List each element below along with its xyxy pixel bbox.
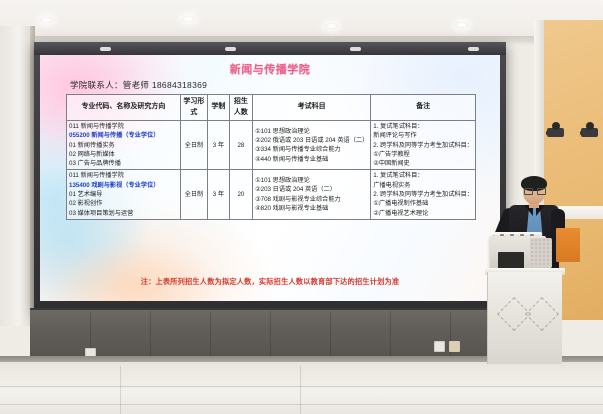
floor-tile-line (0, 404, 603, 405)
floor (0, 362, 603, 414)
cell-enrollment: 28 (229, 121, 252, 170)
frame-spot-light (350, 47, 361, 51)
remark-line: ①广播电视制作基础 (373, 199, 473, 208)
cell-duration: 3 年 (207, 121, 229, 170)
wall-camera-icon (581, 128, 598, 137)
speaker-grill-icon (530, 238, 552, 268)
remark-line: ②中国新闻史 (373, 159, 473, 168)
cell-duration: 3 年 (207, 170, 229, 219)
major-line: 011 新闻与传播学院 (69, 171, 178, 180)
major-line-code: 055200 新闻与传播（专业学位） (69, 131, 178, 140)
slide-footnote: 注：上表所列招生人数为拟定人数，实际招生人数以教育部下达的招生计划为准 (40, 277, 500, 287)
podium (487, 272, 562, 364)
glasses-icon (524, 188, 544, 193)
table-row: 011 新闻与传播学院 135400 戏剧与影视（专业学位） 01 艺术编导 0… (67, 170, 476, 219)
frame-spot-light (468, 47, 479, 51)
ceiling-downlight (455, 22, 468, 28)
cell-major: 011 新闻与传播学院 135400 戏剧与影视（专业学位） 01 艺术编导 0… (67, 170, 181, 219)
col-header-exam-subjects: 考试科目 (253, 95, 371, 121)
col-header-enrollment: 招生人数 (229, 95, 252, 121)
remark-line: 新闻评论与写作 (373, 131, 473, 140)
major-line-code: 135400 戏剧与影视（专业学位） (69, 181, 178, 190)
cell-study-form: 全日制 (180, 170, 207, 219)
table-body: 011 新闻与传播学院 055200 新闻与传播（专业学位） 01 新闻传播实务… (67, 121, 476, 220)
left-wall (0, 26, 34, 326)
col-header-major: 专业代码、名称及研究方向 (67, 95, 181, 121)
exam-subject-line: ④440 新闻与传播专业基础 (255, 155, 368, 164)
remark-line: ②广播电视艺术理论 (373, 209, 473, 218)
exam-subject-line: ①101 思想政治理论 (255, 176, 368, 185)
slide-title: 新闻与传播学院 (40, 61, 500, 77)
cell-major: 011 新闻与传播学院 055200 新闻与传播（专业学位） 01 新闻传播实务… (67, 121, 181, 170)
cell-enrollment: 20 (229, 170, 252, 219)
slide-content: 新闻与传播学院 学院联系人：管老师 18684318369 专业代码、名称及研究… (40, 55, 500, 301)
col-header-remarks: 备注 (371, 95, 476, 121)
exam-subject-line: ①101 思想政治理论 (255, 127, 368, 136)
floor-tile-line (0, 386, 603, 387)
ceiling-downlight (40, 17, 53, 23)
major-line: 03 媒体项目策划与运营 (69, 209, 178, 218)
major-line: 03 广告与品牌传播 (69, 159, 178, 168)
frame-spot-light (100, 47, 111, 51)
wall-outlet[interactable] (434, 341, 445, 352)
table-header-row: 专业代码、名称及研究方向 学习形式 学制 招生人数 考试科目 备注 (67, 95, 476, 121)
cell-study-form: 全日制 (180, 121, 207, 170)
remark-line: 广播电视实务 (373, 181, 473, 190)
floor-tile-line (300, 366, 301, 414)
wall-outlet[interactable] (449, 341, 460, 352)
college-contact-line: 学院联系人：管老师 18684318369 (70, 79, 207, 91)
major-line: 01 艺术编导 (69, 190, 178, 199)
col-header-study-form: 学习形式 (180, 95, 207, 121)
col-header-duration: 学制 (207, 95, 229, 121)
floor-tile-line (120, 366, 121, 414)
exam-subject-line: ③334 新闻与传播专业综合能力 (255, 145, 368, 154)
exam-subject-line: ③708 戏剧与影视专业综合能力 (255, 195, 368, 204)
screenshot-stage: 新闻与传播学院 学院联系人：管老师 18684318369 专业代码、名称及研究… (0, 0, 603, 414)
cell-exam-subjects: ①101 思想政治理论 ②202 俄语或 203 日语或 204 英语（二） ③… (253, 121, 371, 170)
cell-remarks: 1. 复试笔试科目： 新闻评论与写作 2. 跨学科及同等学力考生加试科目： ①广… (371, 121, 476, 170)
exam-subject-line: ②203 日语或 204 英语（二） (255, 185, 368, 194)
exam-subject-line: ④820 戏剧与影视专业基础 (255, 204, 368, 213)
table-row: 011 新闻与传播学院 055200 新闻与传播（专业学位） 01 新闻传播实务… (67, 121, 476, 170)
major-line: 02 影视创作 (69, 199, 178, 208)
cell-exam-subjects: ①101 思想政治理论 ②203 日语或 204 英语（二） ③708 戏剧与影… (253, 170, 371, 219)
frame-spot-light (225, 47, 236, 51)
orange-panel (556, 228, 580, 262)
cell-remarks: 1. 复试笔试科目： 广播电视实务 2. 跨学科及同等学力考生加试科目： ①广播… (371, 170, 476, 219)
wall-camera-icon (547, 128, 564, 137)
major-line: 02 网络与新媒体 (69, 150, 178, 159)
major-line: 011 新闻与传播学院 (69, 122, 178, 131)
major-line: 01 新闻传播实务 (69, 141, 178, 150)
ceiling-downlight (182, 16, 195, 22)
projected-slide-screen: 新闻与传播学院 学院联系人：管老师 18684318369 专业代码、名称及研究… (40, 55, 500, 301)
remark-line: 1. 复试笔试科目： (373, 171, 473, 180)
ceiling-downlight (325, 23, 338, 29)
exam-subject-line: ②202 俄语或 203 日语或 204 英语（二） (255, 136, 368, 145)
remark-line: 2. 跨学科及同等学力考生加试科目： (373, 190, 473, 199)
remark-line: 2. 跨学科及同等学力考生加试科目： (373, 141, 473, 150)
remark-line: ①广告学教程 (373, 150, 473, 159)
podium-decor-diamond (525, 297, 559, 331)
admissions-table: 专业代码、名称及研究方向 学习形式 学制 招生人数 考试科目 备注 011 新闻… (66, 94, 476, 220)
remark-line: 1. 复试笔试科目： (373, 122, 473, 131)
